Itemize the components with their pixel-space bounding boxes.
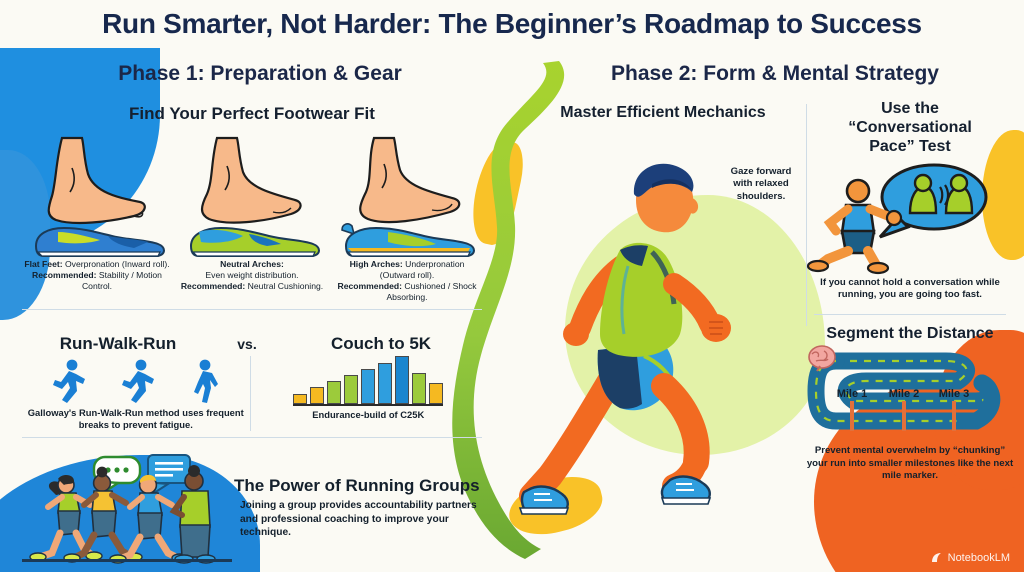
neutral-arch-foot-icon [177, 130, 327, 258]
chart-bar [310, 387, 324, 404]
footwear-type-neutral: Neutral Arches: Even weight distribution… [177, 130, 327, 303]
methods-body: Galloway's Run-Walk-Run method uses freq… [22, 356, 482, 431]
couch-to-5k-block: Endurance-build of C25K [251, 356, 483, 431]
footwear-heading: Find Your Perfect Footwear Fit [22, 104, 482, 124]
running-groups-text: The Power of Running Groups Joining a gr… [232, 476, 484, 539]
chart-bar [293, 394, 307, 404]
methods-panel: Run-Walk-Run vs. Couch to 5K [22, 330, 482, 438]
group-of-runners-illustration [22, 453, 232, 563]
footwear-panel: Find Your Perfect Footwear Fit [22, 104, 482, 310]
runner-with-speech-bubble-icon [806, 161, 1014, 273]
footwear-type-flat: Flat Feet: Overpronation (Inward roll). … [22, 130, 172, 303]
phase-1-title: Phase 1: Preparation & Gear [60, 62, 460, 86]
chart-bar [361, 369, 375, 404]
run-walk-run-caption: Galloway's Run-Walk-Run method uses freq… [22, 407, 250, 431]
winding-road-with-mile-markers: Mile 1 Mile 2 Mile 3 [806, 345, 1014, 437]
run-walk-run-block: Galloway's Run-Walk-Run method uses freq… [22, 356, 250, 431]
chart-bar [395, 356, 409, 404]
high-arch-foot-icon [332, 130, 482, 258]
pace-heading: Use the “Conversational Pace” Test [806, 100, 1014, 157]
running-man-illustration [524, 128, 794, 548]
watermark-label: NotebookLM [948, 552, 1010, 564]
footwear-desc-neutral: Even weight distribution. [205, 270, 298, 280]
infographic-root: Run Smarter, Not Harder: The Beginner’s … [0, 0, 1024, 572]
footwear-rec-label-flat: Recommended: [32, 270, 96, 280]
footwear-name-neutral: Neutral Arches: [220, 259, 284, 269]
footwear-caption-high: High Arches: Underpronation (Outward rol… [332, 259, 482, 303]
footwear-name-flat: Flat Feet: [24, 259, 62, 269]
footwear-rec-label-high: Recommended: [338, 281, 402, 291]
mile-marker-2: Mile 2 [889, 388, 920, 400]
pace-caption: If you cannot hold a conversation while … [806, 277, 1014, 302]
chart-bar [327, 381, 341, 404]
running-groups-body: Joining a group provides accountability … [240, 499, 484, 539]
methods-divider [22, 437, 482, 438]
pace-heading-line2: “Conversational [848, 119, 972, 136]
couch-to-5k-title: Couch to 5K [286, 334, 476, 354]
segment-caption: Prevent mental overwhelm by “chunking” y… [806, 445, 1014, 482]
mile-marker-1: Mile 1 [837, 388, 868, 400]
pace-heading-line3: Pace” Test [869, 138, 951, 155]
page-title: Run Smarter, Not Harder: The Beginner’s … [0, 8, 1024, 40]
footwear-rec-label-neutral: Recommended: [181, 281, 245, 291]
chart-bar [412, 373, 426, 404]
footwear-rec-neutral: Neutral Cushioning. [245, 281, 323, 291]
footwear-desc-flat: Overpronation (Inward roll). [63, 259, 170, 269]
chart-bar [344, 375, 358, 404]
run-walk-run-title: Run-Walk-Run [28, 334, 208, 354]
runner-pictograms [22, 356, 250, 404]
chart-bar [378, 363, 392, 404]
notebooklm-logo-icon [930, 551, 943, 564]
running-person-icon [52, 358, 86, 404]
footwear-divider [22, 309, 482, 310]
pace-heading-line1: Use the [881, 100, 939, 117]
footwear-caption-neutral: Neutral Arches: Even weight distribution… [177, 259, 327, 292]
notebooklm-watermark: NotebookLM [930, 551, 1010, 564]
running-groups-panel: The Power of Running Groups Joining a gr… [22, 452, 492, 564]
footwear-name-high: High Arches: [350, 259, 403, 269]
walking-person-icon [190, 358, 220, 404]
right-column-divider [814, 314, 1006, 315]
couch-to-5k-caption: Endurance-build of C25K [255, 409, 483, 421]
vs-label: vs. [237, 336, 256, 352]
running-shoe-back [520, 487, 568, 514]
running-groups-heading: The Power of Running Groups [234, 476, 484, 496]
runner-figure-1 [30, 475, 102, 561]
footwear-caption-flat: Flat Feet: Overpronation (Inward roll). … [22, 259, 172, 292]
mechanics-panel: Master Efficient Mechanics Gaze forward … [528, 104, 798, 556]
segment-heading: Segment the Distance [806, 325, 1014, 344]
footwear-type-row: Flat Feet: Overpronation (Inward roll). … [22, 130, 482, 303]
phase-2-title: Phase 2: Form & Mental Strategy [540, 62, 1010, 86]
footwear-type-high: High Arches: Underpronation (Outward rol… [332, 130, 482, 303]
endurance-bar-chart [293, 356, 443, 406]
right-column: Use the “Conversational Pace” Test [806, 100, 1014, 483]
running-shoe-front [662, 477, 710, 504]
flat-foot-icon [22, 130, 172, 258]
mechanics-heading: Master Efficient Mechanics [528, 104, 798, 122]
chart-bar [429, 383, 443, 404]
mile-marker-3: Mile 3 [939, 388, 970, 400]
running-person-icon [121, 358, 155, 404]
methods-heading-row: Run-Walk-Run vs. Couch to 5K [22, 330, 482, 354]
